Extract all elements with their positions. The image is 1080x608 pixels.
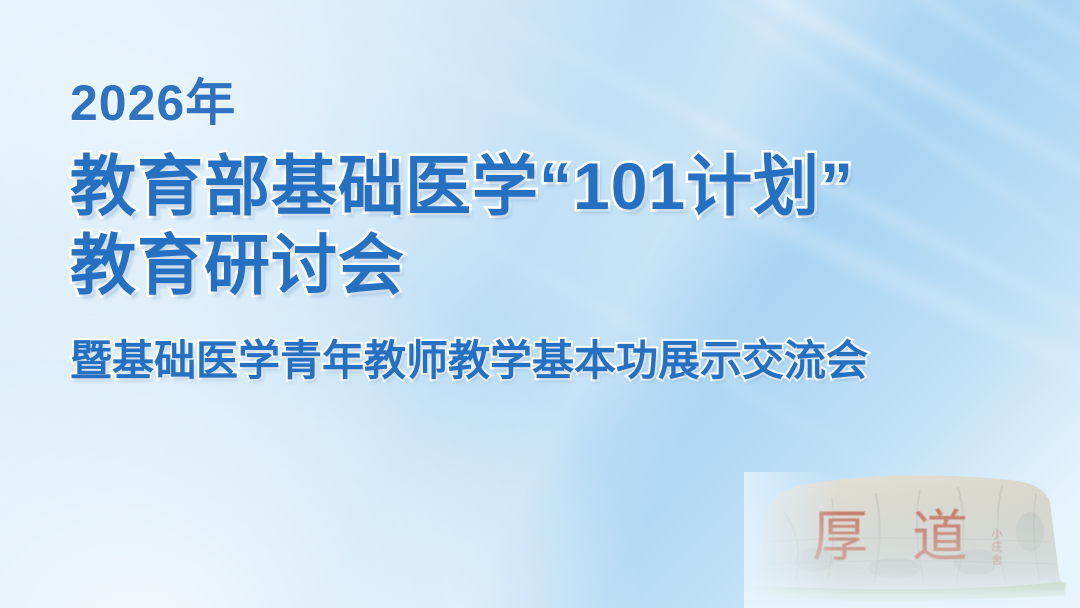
stone-bottom-fade xyxy=(744,472,1080,608)
poster-text-block: 2026年 教育部基础医学“101计划” 教育研讨会 暨基础医学青年教师教学基本… xyxy=(70,78,1030,388)
poster-title-line-2: 教育研讨会 xyxy=(70,227,1030,304)
poster-title-line-1: 教育部基础医学“101计划” xyxy=(70,148,1030,225)
stone-monument-illustration: 厚 道 小庄舍 xyxy=(744,472,1080,608)
stone-monument: 厚 道 小庄舍 xyxy=(744,472,1080,608)
light-ray xyxy=(622,0,1080,66)
poster-canvas: 2026年 教育部基础医学“101计划” 教育研讨会 暨基础医学青年教师教学基本… xyxy=(0,0,1080,608)
poster-subtitle: 暨基础医学青年教师教学基本功展示交流会 xyxy=(70,327,1030,388)
poster-year: 2026年 xyxy=(70,78,1030,128)
